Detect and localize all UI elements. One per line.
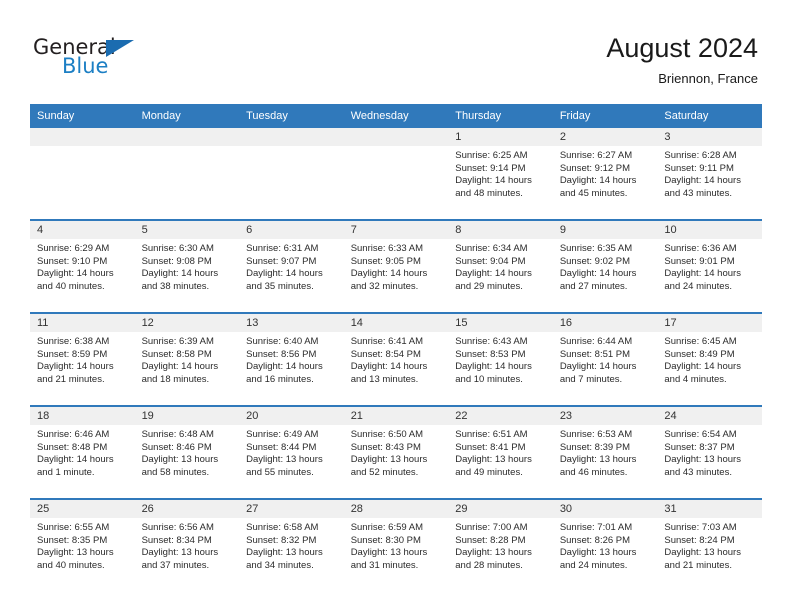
day-number xyxy=(135,128,240,146)
day-details: Sunrise: 6:46 AMSunset: 8:48 PMDaylight:… xyxy=(30,425,135,479)
day-detail-line: Sunset: 8:46 PM xyxy=(142,442,235,455)
day-details: Sunrise: 6:48 AMSunset: 8:46 PMDaylight:… xyxy=(135,425,240,479)
day-detail-line: and 35 minutes. xyxy=(246,281,339,294)
day-detail-line: Sunrise: 6:44 AM xyxy=(560,336,653,349)
day-number: 27 xyxy=(239,500,344,518)
day-details: Sunrise: 6:25 AMSunset: 9:14 PMDaylight:… xyxy=(448,146,553,200)
day-detail-line: Daylight: 13 hours xyxy=(246,454,339,467)
logo-triangle-icon xyxy=(106,40,134,57)
day-cell-inner xyxy=(344,128,449,219)
day-number: 13 xyxy=(239,314,344,332)
day-cell-inner: 20Sunrise: 6:49 AMSunset: 8:44 PMDayligh… xyxy=(239,407,344,498)
weekday-header-tuesday: Tuesday xyxy=(239,104,344,128)
calendar-grid: Sunday Monday Tuesday Wednesday Thursday… xyxy=(30,104,762,591)
day-cell-inner: 10Sunrise: 6:36 AMSunset: 9:01 PMDayligh… xyxy=(657,221,762,312)
day-detail-line: Daylight: 13 hours xyxy=(560,454,653,467)
day-cell-inner: 23Sunrise: 6:53 AMSunset: 8:39 PMDayligh… xyxy=(553,407,658,498)
calendar-header-row: Sunday Monday Tuesday Wednesday Thursday… xyxy=(30,104,762,128)
day-detail-line: Daylight: 13 hours xyxy=(351,454,444,467)
calendar-day-cell[interactable]: 17Sunrise: 6:45 AMSunset: 8:49 PMDayligh… xyxy=(657,313,762,406)
day-number: 5 xyxy=(135,221,240,239)
day-detail-line: and 21 minutes. xyxy=(37,374,130,387)
day-detail-line: and 21 minutes. xyxy=(664,560,757,573)
day-detail-line: and 7 minutes. xyxy=(560,374,653,387)
day-detail-line: Sunset: 8:28 PM xyxy=(455,535,548,548)
generalblue-logo[interactable]: General Blue xyxy=(33,36,153,82)
day-detail-line: and 4 minutes. xyxy=(664,374,757,387)
calendar-day-cell[interactable]: 30Sunrise: 7:01 AMSunset: 8:26 PMDayligh… xyxy=(553,499,658,591)
day-detail-line: Sunset: 8:24 PM xyxy=(664,535,757,548)
day-number: 2 xyxy=(553,128,658,146)
calendar-day-cell[interactable]: 28Sunrise: 6:59 AMSunset: 8:30 PMDayligh… xyxy=(344,499,449,591)
day-detail-line: Sunset: 8:51 PM xyxy=(560,349,653,362)
day-detail-line: Daylight: 13 hours xyxy=(142,454,235,467)
day-number: 10 xyxy=(657,221,762,239)
day-number xyxy=(30,128,135,146)
day-number: 20 xyxy=(239,407,344,425)
day-detail-line: Sunset: 8:32 PM xyxy=(246,535,339,548)
day-detail-line: Daylight: 13 hours xyxy=(37,547,130,560)
calendar-day-cell[interactable]: 26Sunrise: 6:56 AMSunset: 8:34 PMDayligh… xyxy=(135,499,240,591)
day-detail-line: and 37 minutes. xyxy=(142,560,235,573)
day-detail-line: Sunset: 8:44 PM xyxy=(246,442,339,455)
day-cell-inner: 15Sunrise: 6:43 AMSunset: 8:53 PMDayligh… xyxy=(448,314,553,405)
day-cell-inner: 4Sunrise: 6:29 AMSunset: 9:10 PMDaylight… xyxy=(30,221,135,312)
day-details: Sunrise: 6:50 AMSunset: 8:43 PMDaylight:… xyxy=(344,425,449,479)
day-detail-line: Daylight: 14 hours xyxy=(246,268,339,281)
calendar-day-cell[interactable]: 7Sunrise: 6:33 AMSunset: 9:05 PMDaylight… xyxy=(344,220,449,313)
day-cell-inner: 5Sunrise: 6:30 AMSunset: 9:08 PMDaylight… xyxy=(135,221,240,312)
day-details: Sunrise: 6:28 AMSunset: 9:11 PMDaylight:… xyxy=(657,146,762,200)
day-detail-line: and 1 minute. xyxy=(37,467,130,480)
calendar-day-cell[interactable]: 8Sunrise: 6:34 AMSunset: 9:04 PMDaylight… xyxy=(448,220,553,313)
day-number: 7 xyxy=(344,221,449,239)
day-detail-line: and 24 minutes. xyxy=(560,560,653,573)
day-detail-line: Sunrise: 6:58 AM xyxy=(246,522,339,535)
day-details: Sunrise: 6:41 AMSunset: 8:54 PMDaylight:… xyxy=(344,332,449,386)
day-detail-line: and 43 minutes. xyxy=(664,188,757,201)
day-details: Sunrise: 7:00 AMSunset: 8:28 PMDaylight:… xyxy=(448,518,553,572)
day-cell-inner: 14Sunrise: 6:41 AMSunset: 8:54 PMDayligh… xyxy=(344,314,449,405)
day-cell-inner: 31Sunrise: 7:03 AMSunset: 8:24 PMDayligh… xyxy=(657,500,762,591)
calendar-day-cell[interactable]: 27Sunrise: 6:58 AMSunset: 8:32 PMDayligh… xyxy=(239,499,344,591)
calendar-empty-cell xyxy=(239,128,344,220)
day-detail-line: Sunrise: 6:35 AM xyxy=(560,243,653,256)
day-detail-line: Daylight: 13 hours xyxy=(142,547,235,560)
calendar-day-cell[interactable]: 24Sunrise: 6:54 AMSunset: 8:37 PMDayligh… xyxy=(657,406,762,499)
day-detail-line: Daylight: 14 hours xyxy=(664,268,757,281)
day-detail-line: Sunrise: 6:39 AM xyxy=(142,336,235,349)
day-number: 31 xyxy=(657,500,762,518)
weekday-header-saturday: Saturday xyxy=(657,104,762,128)
day-details: Sunrise: 6:43 AMSunset: 8:53 PMDaylight:… xyxy=(448,332,553,386)
day-detail-line: Daylight: 14 hours xyxy=(455,175,548,188)
day-cell-inner: 17Sunrise: 6:45 AMSunset: 8:49 PMDayligh… xyxy=(657,314,762,405)
calendar-day-cell[interactable]: 5Sunrise: 6:30 AMSunset: 9:08 PMDaylight… xyxy=(135,220,240,313)
day-detail-line: Sunrise: 7:03 AM xyxy=(664,522,757,535)
day-detail-line: Sunrise: 6:59 AM xyxy=(351,522,444,535)
day-detail-line: Daylight: 14 hours xyxy=(560,361,653,374)
calendar-day-cell[interactable]: 14Sunrise: 6:41 AMSunset: 8:54 PMDayligh… xyxy=(344,313,449,406)
day-detail-line: Sunrise: 6:41 AM xyxy=(351,336,444,349)
day-detail-line: Sunset: 9:05 PM xyxy=(351,256,444,269)
title-block: August 2024 Briennon, France xyxy=(606,32,758,88)
day-detail-line: Sunrise: 6:31 AM xyxy=(246,243,339,256)
day-cell-inner: 2Sunrise: 6:27 AMSunset: 9:12 PMDaylight… xyxy=(553,128,658,219)
day-cell-inner: 26Sunrise: 6:56 AMSunset: 8:34 PMDayligh… xyxy=(135,500,240,591)
calendar-day-cell[interactable]: 9Sunrise: 6:35 AMSunset: 9:02 PMDaylight… xyxy=(553,220,658,313)
day-cell-inner: 6Sunrise: 6:31 AMSunset: 9:07 PMDaylight… xyxy=(239,221,344,312)
day-detail-line: Sunrise: 6:28 AM xyxy=(664,150,757,163)
day-detail-line: Sunrise: 6:50 AM xyxy=(351,429,444,442)
day-number: 15 xyxy=(448,314,553,332)
day-detail-line: Sunset: 8:53 PM xyxy=(455,349,548,362)
day-detail-line: Daylight: 14 hours xyxy=(142,268,235,281)
day-detail-line: Sunrise: 7:00 AM xyxy=(455,522,548,535)
day-details xyxy=(344,146,449,150)
day-detail-line: Sunset: 8:49 PM xyxy=(664,349,757,362)
day-detail-line: Sunrise: 6:38 AM xyxy=(37,336,130,349)
day-detail-line: Daylight: 13 hours xyxy=(351,547,444,560)
day-details: Sunrise: 6:53 AMSunset: 8:39 PMDaylight:… xyxy=(553,425,658,479)
day-detail-line: Sunrise: 7:01 AM xyxy=(560,522,653,535)
day-detail-line: Daylight: 13 hours xyxy=(560,547,653,560)
day-details xyxy=(135,146,240,150)
calendar-week-row: 4Sunrise: 6:29 AMSunset: 9:10 PMDaylight… xyxy=(30,220,762,313)
day-details: Sunrise: 6:39 AMSunset: 8:58 PMDaylight:… xyxy=(135,332,240,386)
day-details: Sunrise: 7:01 AMSunset: 8:26 PMDaylight:… xyxy=(553,518,658,572)
day-details: Sunrise: 6:49 AMSunset: 8:44 PMDaylight:… xyxy=(239,425,344,479)
day-cell-inner: 19Sunrise: 6:48 AMSunset: 8:46 PMDayligh… xyxy=(135,407,240,498)
calendar-week-row: 1Sunrise: 6:25 AMSunset: 9:14 PMDaylight… xyxy=(30,128,762,220)
day-details: Sunrise: 6:54 AMSunset: 8:37 PMDaylight:… xyxy=(657,425,762,479)
day-number: 9 xyxy=(553,221,658,239)
day-number: 30 xyxy=(553,500,658,518)
day-detail-line: Sunset: 8:58 PM xyxy=(142,349,235,362)
day-details: Sunrise: 6:27 AMSunset: 9:12 PMDaylight:… xyxy=(553,146,658,200)
day-cell-inner xyxy=(135,128,240,219)
day-detail-line: and 13 minutes. xyxy=(351,374,444,387)
day-detail-line: and 32 minutes. xyxy=(351,281,444,294)
day-number: 8 xyxy=(448,221,553,239)
day-cell-inner: 9Sunrise: 6:35 AMSunset: 9:02 PMDaylight… xyxy=(553,221,658,312)
calendar-week-row: 25Sunrise: 6:55 AMSunset: 8:35 PMDayligh… xyxy=(30,499,762,591)
weekday-header-wednesday: Wednesday xyxy=(344,104,449,128)
day-detail-line: Sunset: 8:30 PM xyxy=(351,535,444,548)
calendar-empty-cell xyxy=(135,128,240,220)
day-cell-inner: 8Sunrise: 6:34 AMSunset: 9:04 PMDaylight… xyxy=(448,221,553,312)
day-details: Sunrise: 6:45 AMSunset: 8:49 PMDaylight:… xyxy=(657,332,762,386)
day-detail-line: Daylight: 13 hours xyxy=(664,547,757,560)
day-detail-line: Daylight: 14 hours xyxy=(560,268,653,281)
calendar-day-cell[interactable]: 16Sunrise: 6:44 AMSunset: 8:51 PMDayligh… xyxy=(553,313,658,406)
calendar-day-cell[interactable]: 11Sunrise: 6:38 AMSunset: 8:59 PMDayligh… xyxy=(30,313,135,406)
day-number: 12 xyxy=(135,314,240,332)
day-cell-inner: 27Sunrise: 6:58 AMSunset: 8:32 PMDayligh… xyxy=(239,500,344,591)
day-cell-inner: 3Sunrise: 6:28 AMSunset: 9:11 PMDaylight… xyxy=(657,128,762,219)
day-detail-line: Sunset: 9:14 PM xyxy=(455,163,548,176)
day-cell-inner: 22Sunrise: 6:51 AMSunset: 8:41 PMDayligh… xyxy=(448,407,553,498)
calendar-day-cell[interactable]: 25Sunrise: 6:55 AMSunset: 8:35 PMDayligh… xyxy=(30,499,135,591)
calendar-day-cell[interactable]: 2Sunrise: 6:27 AMSunset: 9:12 PMDaylight… xyxy=(553,128,658,220)
day-number: 3 xyxy=(657,128,762,146)
day-number: 24 xyxy=(657,407,762,425)
day-details xyxy=(239,146,344,150)
day-detail-line: and 18 minutes. xyxy=(142,374,235,387)
day-detail-line: Sunrise: 6:53 AM xyxy=(560,429,653,442)
day-detail-line: Sunrise: 6:56 AM xyxy=(142,522,235,535)
day-detail-line: Daylight: 14 hours xyxy=(351,268,444,281)
day-detail-line: Daylight: 13 hours xyxy=(455,454,548,467)
day-detail-line: Sunrise: 6:46 AM xyxy=(37,429,130,442)
day-number xyxy=(239,128,344,146)
day-detail-line: and 49 minutes. xyxy=(455,467,548,480)
day-detail-line: Sunrise: 6:55 AM xyxy=(37,522,130,535)
calendar-day-cell[interactable]: 22Sunrise: 6:51 AMSunset: 8:41 PMDayligh… xyxy=(448,406,553,499)
weekday-header-friday: Friday xyxy=(553,104,658,128)
day-detail-line: Sunrise: 6:29 AM xyxy=(37,243,130,256)
day-detail-line: and 46 minutes. xyxy=(560,467,653,480)
day-cell-inner: 24Sunrise: 6:54 AMSunset: 8:37 PMDayligh… xyxy=(657,407,762,498)
day-number: 23 xyxy=(553,407,658,425)
day-detail-line: Sunset: 9:04 PM xyxy=(455,256,548,269)
calendar-empty-cell xyxy=(344,128,449,220)
calendar-day-cell[interactable]: 19Sunrise: 6:48 AMSunset: 8:46 PMDayligh… xyxy=(135,406,240,499)
day-detail-line: Sunrise: 6:36 AM xyxy=(664,243,757,256)
day-number: 6 xyxy=(239,221,344,239)
day-details: Sunrise: 6:34 AMSunset: 9:04 PMDaylight:… xyxy=(448,239,553,293)
day-cell-inner xyxy=(30,128,135,219)
day-detail-line: Sunset: 8:26 PM xyxy=(560,535,653,548)
day-detail-line: Sunrise: 6:54 AM xyxy=(664,429,757,442)
day-detail-line: Sunset: 9:02 PM xyxy=(560,256,653,269)
day-cell-inner: 18Sunrise: 6:46 AMSunset: 8:48 PMDayligh… xyxy=(30,407,135,498)
day-detail-line: Sunset: 9:01 PM xyxy=(664,256,757,269)
day-number: 18 xyxy=(30,407,135,425)
day-detail-line: Sunset: 8:48 PM xyxy=(37,442,130,455)
day-detail-line: Sunset: 8:54 PM xyxy=(351,349,444,362)
day-details: Sunrise: 6:59 AMSunset: 8:30 PMDaylight:… xyxy=(344,518,449,572)
calendar-day-cell[interactable]: 13Sunrise: 6:40 AMSunset: 8:56 PMDayligh… xyxy=(239,313,344,406)
day-details: Sunrise: 6:30 AMSunset: 9:08 PMDaylight:… xyxy=(135,239,240,293)
page-subtitle: Briennon, France xyxy=(606,70,758,88)
day-detail-line: and 38 minutes. xyxy=(142,281,235,294)
day-details: Sunrise: 6:58 AMSunset: 8:32 PMDaylight:… xyxy=(239,518,344,572)
day-detail-line: and 16 minutes. xyxy=(246,374,339,387)
day-number: 25 xyxy=(30,500,135,518)
day-details: Sunrise: 6:36 AMSunset: 9:01 PMDaylight:… xyxy=(657,239,762,293)
day-number: 17 xyxy=(657,314,762,332)
day-detail-line: Sunrise: 6:51 AM xyxy=(455,429,548,442)
day-detail-line: Daylight: 14 hours xyxy=(37,454,130,467)
day-detail-line: Sunrise: 6:45 AM xyxy=(664,336,757,349)
calendar-day-cell[interactable]: 21Sunrise: 6:50 AMSunset: 8:43 PMDayligh… xyxy=(344,406,449,499)
day-cell-inner xyxy=(239,128,344,219)
day-cell-inner: 1Sunrise: 6:25 AMSunset: 9:14 PMDaylight… xyxy=(448,128,553,219)
day-details: Sunrise: 6:35 AMSunset: 9:02 PMDaylight:… xyxy=(553,239,658,293)
calendar-day-cell[interactable]: 15Sunrise: 6:43 AMSunset: 8:53 PMDayligh… xyxy=(448,313,553,406)
day-detail-line: Sunrise: 6:25 AM xyxy=(455,150,548,163)
day-number: 1 xyxy=(448,128,553,146)
day-detail-line: Sunset: 8:59 PM xyxy=(37,349,130,362)
day-detail-line: Daylight: 14 hours xyxy=(560,175,653,188)
logo-text-blue: Blue xyxy=(62,55,108,77)
day-detail-line: and 31 minutes. xyxy=(351,560,444,573)
page-header: General Blue August 2024 Briennon, Franc… xyxy=(0,0,792,104)
day-details: Sunrise: 6:38 AMSunset: 8:59 PMDaylight:… xyxy=(30,332,135,386)
day-details xyxy=(30,146,135,150)
day-number xyxy=(344,128,449,146)
day-detail-line: Daylight: 14 hours xyxy=(455,361,548,374)
weekday-header-thursday: Thursday xyxy=(448,104,553,128)
calendar-empty-cell xyxy=(30,128,135,220)
day-number: 21 xyxy=(344,407,449,425)
day-detail-line: Sunset: 9:11 PM xyxy=(664,163,757,176)
day-detail-line: Daylight: 13 hours xyxy=(664,454,757,467)
day-detail-line: Daylight: 14 hours xyxy=(351,361,444,374)
day-detail-line: Sunset: 9:10 PM xyxy=(37,256,130,269)
calendar-page: General Blue August 2024 Briennon, Franc… xyxy=(0,0,792,612)
calendar-day-cell[interactable]: 23Sunrise: 6:53 AMSunset: 8:39 PMDayligh… xyxy=(553,406,658,499)
day-number: 22 xyxy=(448,407,553,425)
day-detail-line: and 55 minutes. xyxy=(246,467,339,480)
day-detail-line: Sunset: 9:12 PM xyxy=(560,163,653,176)
day-cell-inner: 25Sunrise: 6:55 AMSunset: 8:35 PMDayligh… xyxy=(30,500,135,591)
day-number: 16 xyxy=(553,314,658,332)
day-detail-line: Sunrise: 6:33 AM xyxy=(351,243,444,256)
day-details: Sunrise: 6:56 AMSunset: 8:34 PMDaylight:… xyxy=(135,518,240,572)
day-detail-line: and 27 minutes. xyxy=(560,281,653,294)
calendar-day-cell[interactable]: 29Sunrise: 7:00 AMSunset: 8:28 PMDayligh… xyxy=(448,499,553,591)
day-detail-line: Daylight: 14 hours xyxy=(37,268,130,281)
day-detail-line: Sunset: 8:39 PM xyxy=(560,442,653,455)
day-details: Sunrise: 6:55 AMSunset: 8:35 PMDaylight:… xyxy=(30,518,135,572)
day-cell-inner: 30Sunrise: 7:01 AMSunset: 8:26 PMDayligh… xyxy=(553,500,658,591)
day-cell-inner: 7Sunrise: 6:33 AMSunset: 9:05 PMDaylight… xyxy=(344,221,449,312)
weekday-header-sunday: Sunday xyxy=(30,104,135,128)
calendar-day-cell[interactable]: 3Sunrise: 6:28 AMSunset: 9:11 PMDaylight… xyxy=(657,128,762,220)
day-details: Sunrise: 6:29 AMSunset: 9:10 PMDaylight:… xyxy=(30,239,135,293)
day-number: 4 xyxy=(30,221,135,239)
calendar-table: Sunday Monday Tuesday Wednesday Thursday… xyxy=(30,104,762,591)
day-detail-line: Sunset: 8:41 PM xyxy=(455,442,548,455)
day-detail-line: Sunrise: 6:30 AM xyxy=(142,243,235,256)
day-details: Sunrise: 6:51 AMSunset: 8:41 PMDaylight:… xyxy=(448,425,553,479)
day-details: Sunrise: 6:40 AMSunset: 8:56 PMDaylight:… xyxy=(239,332,344,386)
day-details: Sunrise: 6:44 AMSunset: 8:51 PMDaylight:… xyxy=(553,332,658,386)
day-detail-line: and 52 minutes. xyxy=(351,467,444,480)
calendar-day-cell[interactable]: 6Sunrise: 6:31 AMSunset: 9:07 PMDaylight… xyxy=(239,220,344,313)
day-detail-line: Sunrise: 6:34 AM xyxy=(455,243,548,256)
day-details: Sunrise: 7:03 AMSunset: 8:24 PMDaylight:… xyxy=(657,518,762,572)
calendar-day-cell[interactable]: 18Sunrise: 6:46 AMSunset: 8:48 PMDayligh… xyxy=(30,406,135,499)
day-detail-line: and 40 minutes. xyxy=(37,281,130,294)
day-detail-line: Daylight: 13 hours xyxy=(246,547,339,560)
day-number: 11 xyxy=(30,314,135,332)
day-detail-line: Daylight: 14 hours xyxy=(664,175,757,188)
day-detail-line: Sunset: 8:34 PM xyxy=(142,535,235,548)
day-detail-line: Daylight: 14 hours xyxy=(246,361,339,374)
day-detail-line: Sunrise: 6:43 AM xyxy=(455,336,548,349)
day-number: 26 xyxy=(135,500,240,518)
day-detail-line: and 45 minutes. xyxy=(560,188,653,201)
day-detail-line: Sunset: 8:43 PM xyxy=(351,442,444,455)
day-cell-inner: 13Sunrise: 6:40 AMSunset: 8:56 PMDayligh… xyxy=(239,314,344,405)
day-cell-inner: 12Sunrise: 6:39 AMSunset: 8:58 PMDayligh… xyxy=(135,314,240,405)
day-detail-line: Sunset: 8:37 PM xyxy=(664,442,757,455)
day-detail-line: Daylight: 14 hours xyxy=(664,361,757,374)
day-detail-line: Daylight: 14 hours xyxy=(142,361,235,374)
calendar-body: 1Sunrise: 6:25 AMSunset: 9:14 PMDaylight… xyxy=(30,128,762,591)
day-detail-line: and 24 minutes. xyxy=(664,281,757,294)
day-detail-line: Sunset: 9:08 PM xyxy=(142,256,235,269)
page-title: August 2024 xyxy=(606,32,758,64)
calendar-day-cell[interactable]: 12Sunrise: 6:39 AMSunset: 8:58 PMDayligh… xyxy=(135,313,240,406)
day-details: Sunrise: 6:33 AMSunset: 9:05 PMDaylight:… xyxy=(344,239,449,293)
calendar-day-cell[interactable]: 1Sunrise: 6:25 AMSunset: 9:14 PMDaylight… xyxy=(448,128,553,220)
day-detail-line: and 10 minutes. xyxy=(455,374,548,387)
day-detail-line: and 34 minutes. xyxy=(246,560,339,573)
day-detail-line: Sunset: 8:56 PM xyxy=(246,349,339,362)
day-cell-inner: 16Sunrise: 6:44 AMSunset: 8:51 PMDayligh… xyxy=(553,314,658,405)
day-detail-line: and 40 minutes. xyxy=(37,560,130,573)
day-detail-line: and 58 minutes. xyxy=(142,467,235,480)
day-detail-line: Daylight: 13 hours xyxy=(455,547,548,560)
day-detail-line: Sunrise: 6:27 AM xyxy=(560,150,653,163)
calendar-week-row: 18Sunrise: 6:46 AMSunset: 8:48 PMDayligh… xyxy=(30,406,762,499)
day-details: Sunrise: 6:31 AMSunset: 9:07 PMDaylight:… xyxy=(239,239,344,293)
day-number: 14 xyxy=(344,314,449,332)
calendar-day-cell[interactable]: 10Sunrise: 6:36 AMSunset: 9:01 PMDayligh… xyxy=(657,220,762,313)
day-detail-line: and 28 minutes. xyxy=(455,560,548,573)
day-cell-inner: 21Sunrise: 6:50 AMSunset: 8:43 PMDayligh… xyxy=(344,407,449,498)
calendar-week-row: 11Sunrise: 6:38 AMSunset: 8:59 PMDayligh… xyxy=(30,313,762,406)
day-detail-line: Sunrise: 6:49 AM xyxy=(246,429,339,442)
day-number: 29 xyxy=(448,500,553,518)
day-detail-line: and 29 minutes. xyxy=(455,281,548,294)
day-detail-line: Sunset: 9:07 PM xyxy=(246,256,339,269)
day-detail-line: and 43 minutes. xyxy=(664,467,757,480)
day-detail-line: Sunrise: 6:48 AM xyxy=(142,429,235,442)
calendar-day-cell[interactable]: 4Sunrise: 6:29 AMSunset: 9:10 PMDaylight… xyxy=(30,220,135,313)
day-detail-line: Daylight: 14 hours xyxy=(37,361,130,374)
day-cell-inner: 11Sunrise: 6:38 AMSunset: 8:59 PMDayligh… xyxy=(30,314,135,405)
day-detail-line: and 48 minutes. xyxy=(455,188,548,201)
weekday-header-monday: Monday xyxy=(135,104,240,128)
day-number: 28 xyxy=(344,500,449,518)
calendar-day-cell[interactable]: 31Sunrise: 7:03 AMSunset: 8:24 PMDayligh… xyxy=(657,499,762,591)
calendar-day-cell[interactable]: 20Sunrise: 6:49 AMSunset: 8:44 PMDayligh… xyxy=(239,406,344,499)
day-cell-inner: 28Sunrise: 6:59 AMSunset: 8:30 PMDayligh… xyxy=(344,500,449,591)
day-detail-line: Sunrise: 6:40 AM xyxy=(246,336,339,349)
day-number: 19 xyxy=(135,407,240,425)
day-cell-inner: 29Sunrise: 7:00 AMSunset: 8:28 PMDayligh… xyxy=(448,500,553,591)
day-detail-line: Sunset: 8:35 PM xyxy=(37,535,130,548)
day-detail-line: Daylight: 14 hours xyxy=(455,268,548,281)
